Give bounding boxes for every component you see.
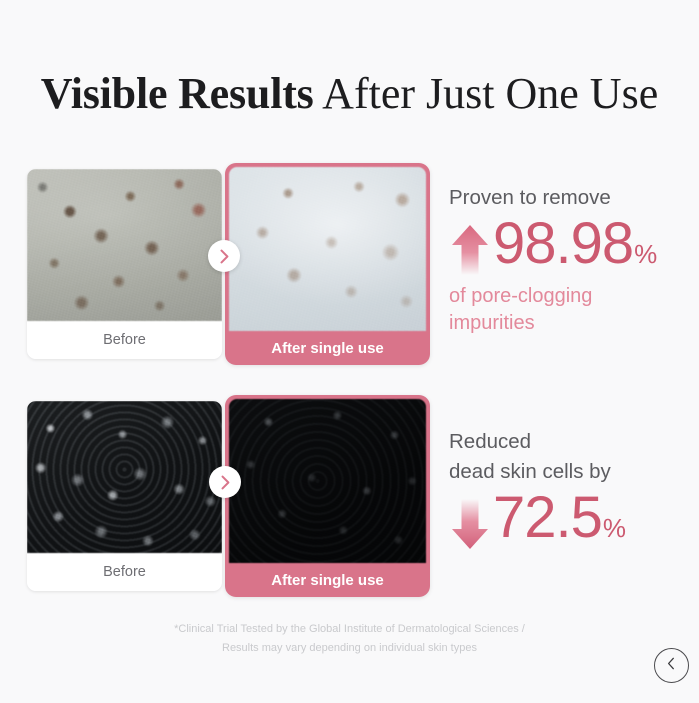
- comparison-toggle-pores[interactable]: [208, 240, 240, 272]
- after-card-dead-skin[interactable]: After single use: [225, 395, 430, 597]
- stat-label: Reduced dead skin cells by: [449, 427, 697, 487]
- after-card-pores[interactable]: After single use: [225, 163, 430, 365]
- stat-pore-impurities: Proven to remove 98.98 % of pore-cloggin…: [449, 183, 697, 337]
- stat-label: Proven to remove: [449, 183, 697, 213]
- page-title-rest: After Just One Use: [314, 69, 659, 118]
- before-image-pores: [27, 169, 222, 321]
- stat-number-wrap: 72.5 %: [493, 489, 626, 547]
- carousel-prev-button[interactable]: [654, 648, 689, 683]
- after-caption: After single use: [229, 563, 426, 597]
- stat-number: 72.5: [493, 489, 602, 547]
- arrow-up-icon: [449, 221, 491, 279]
- after-caption: After single use: [229, 331, 426, 365]
- stat-sublabel: of pore-clogging impurities: [449, 283, 697, 337]
- before-card-dead-skin[interactable]: Before: [27, 401, 222, 591]
- stat-dead-skin-cells: Reduced dead skin cells by 72.5 %: [449, 427, 697, 553]
- stat-number-wrap: 98.98 %: [493, 215, 657, 273]
- before-caption: Before: [27, 321, 222, 359]
- stat-value-group: 72.5 %: [449, 489, 697, 553]
- after-image-dead-skin: [229, 399, 426, 563]
- before-image-dead-skin: [27, 401, 222, 553]
- before-caption: Before: [27, 553, 222, 591]
- arrow-down-icon: [449, 495, 491, 553]
- stat-value-group: 98.98 %: [449, 215, 697, 279]
- stat-number: 98.98: [493, 215, 633, 273]
- chevron-right-icon: [219, 249, 230, 264]
- clinical-trial-disclaimer: *Clinical Trial Tested by the Global Ins…: [0, 620, 699, 658]
- before-card-pores[interactable]: Before: [27, 169, 222, 359]
- page-title-emphasis: Visible Results: [41, 69, 314, 118]
- chevron-right-icon: [220, 475, 231, 490]
- page-title: Visible Results After Just One Use: [0, 68, 699, 120]
- chevron-left-icon: [667, 657, 676, 675]
- after-image-pores: [229, 167, 426, 331]
- stat-unit: %: [603, 515, 626, 541]
- stat-unit: %: [634, 241, 657, 267]
- comparison-toggle-dead-skin[interactable]: [209, 466, 241, 498]
